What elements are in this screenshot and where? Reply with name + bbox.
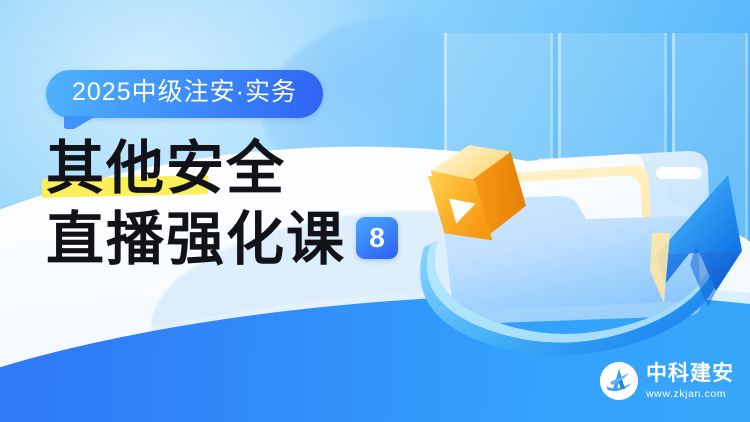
brand-url: www.zkjan.com — [646, 389, 734, 400]
course-title-line-1: 其他安全 — [46, 138, 466, 199]
course-tag-label: 2025中级注安·实务 — [46, 70, 323, 118]
course-promo-banner: 2025中级注安·实务 其他安全 直播强化课8 中科建安 — [0, 0, 750, 422]
episode-number-badge: 8 — [356, 217, 398, 259]
brand-text: 中科建安 www.zkjan.com — [646, 363, 734, 400]
brand-logo: 中科建安 www.zkjan.com — [600, 362, 734, 400]
course-tag: 2025中级注安·实务 — [46, 70, 323, 118]
background-vertical-bars — [430, 33, 750, 353]
folder-back-panel — [535, 151, 710, 261]
sheet-peek — [650, 233, 670, 303]
brand-name: 中科建安 — [646, 363, 734, 384]
zkjan-circle-logo-icon — [600, 362, 638, 400]
headline-block: 2025中级注安·实务 其他安全 直播强化课8 — [46, 70, 466, 270]
course-title-line-2-text: 直播强化课 — [46, 205, 346, 273]
folder-illustration — [420, 95, 750, 355]
document-sheets — [445, 154, 651, 260]
course-tag-tail — [64, 116, 96, 129]
course-title-line-2: 直播强化课8 — [46, 209, 466, 270]
course-title-line-1-text: 其他安全 — [46, 134, 286, 202]
folder-front — [442, 196, 701, 324]
background-bar-3 — [672, 33, 748, 353]
course-title: 其他安全 直播强化课8 — [46, 138, 466, 271]
circular-arrow — [420, 175, 742, 356]
background-bar-2 — [558, 33, 667, 353]
